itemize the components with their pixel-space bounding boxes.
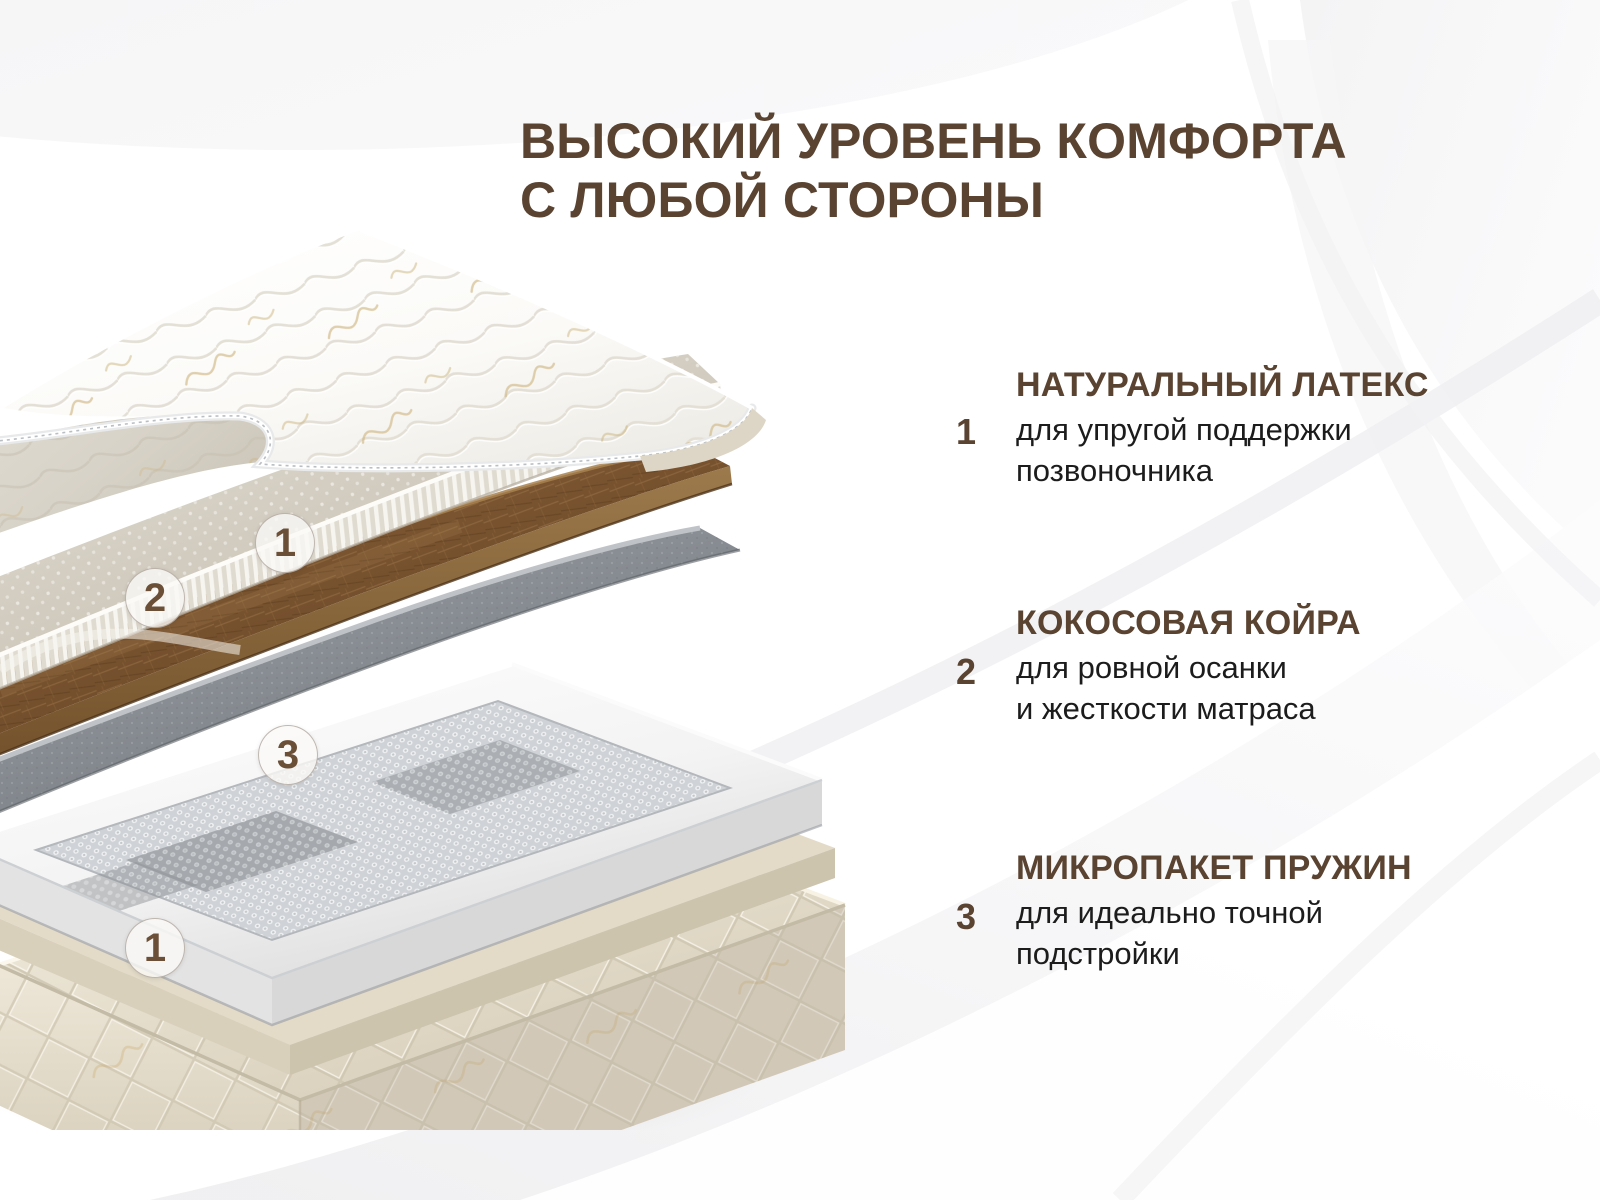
feature-desc-coir-line-2: и жесткости матраса	[1016, 689, 1361, 730]
feature-title-latex: НАТУРАЛЬНЫЙ ЛАТЕКС	[1016, 366, 1429, 404]
feature-number-badge-3: 3	[938, 889, 994, 945]
page-title-line-2: С ЛЮБОЙ СТОРОНЫ	[520, 171, 1530, 230]
feature-title-springs: МИКРОПАКЕТ ПРУЖИН	[1016, 849, 1412, 887]
feature-desc-springs-line-1: для идеально точной	[1016, 893, 1412, 934]
image-badge-coir: 2	[125, 568, 185, 628]
feature-desc-coir-line-1: для ровной осанки	[1016, 648, 1361, 689]
feature-desc-latex-line-2: позвоночника	[1016, 451, 1429, 492]
feature-number-badge-1: 1	[938, 404, 994, 460]
image-badge-latex: 1	[255, 513, 315, 573]
mattress-cutaway-illustration	[0, 170, 880, 1130]
feature-desc-springs: для идеально точной подстройки	[1016, 893, 1412, 975]
feature-text-springs: МИКРОПАКЕТ ПРУЖИН для идеально точной по…	[1016, 849, 1412, 975]
feature-item-latex: 1 НАТУРАЛЬНЫЙ ЛАТЕКС для упругой поддерж…	[938, 366, 1429, 492]
feature-desc-latex-line-1: для упругой поддержки	[1016, 410, 1429, 451]
page-title-line-1: ВЫСОКИЙ УРОВЕНЬ КОМФОРТА	[520, 112, 1530, 171]
feature-text-coir: КОКОСОВАЯ КОЙРА для ровной осанки и жест…	[1016, 604, 1361, 730]
feature-desc-latex: для упругой поддержки позвоночника	[1016, 410, 1429, 492]
image-badge-springs: 3	[258, 725, 318, 785]
page-title: ВЫСОКИЙ УРОВЕНЬ КОМФОРТА С ЛЮБОЙ СТОРОНЫ	[520, 112, 1530, 229]
feature-title-coir: КОКОСОВАЯ КОЙРА	[1016, 604, 1361, 642]
feature-desc-springs-line-2: подстройки	[1016, 934, 1412, 975]
feature-item-coir: 2 КОКОСОВАЯ КОЙРА для ровной осанки и же…	[938, 604, 1361, 730]
feature-text-latex: НАТУРАЛЬНЫЙ ЛАТЕКС для упругой поддержки…	[1016, 366, 1429, 492]
feature-desc-coir: для ровной осанки и жесткости матраса	[1016, 648, 1361, 730]
feature-number-badge-2: 2	[938, 644, 994, 700]
image-badge-base: 1	[125, 918, 185, 978]
feature-item-springs: 3 МИКРОПАКЕТ ПРУЖИН для идеально точной …	[938, 849, 1412, 975]
